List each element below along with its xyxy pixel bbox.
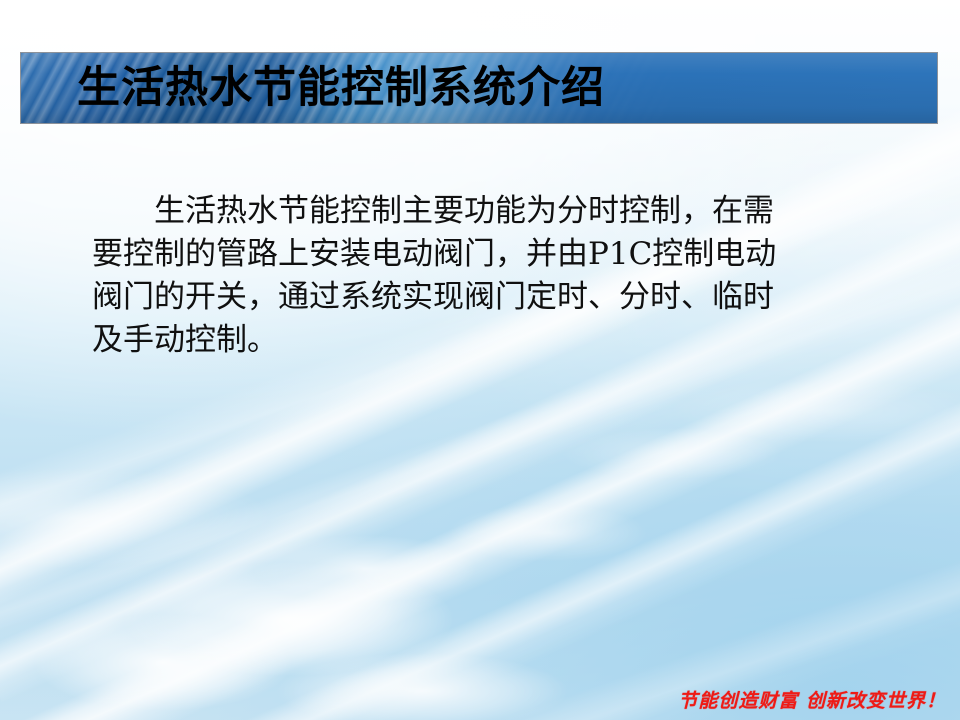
body-text-block: 生活热水节能控制主要功能为分时控制，在需要控制的管路上安装电动阀门，并由P1C控…: [92, 190, 802, 362]
title-banner: 生活热水节能控制系统介绍: [20, 52, 938, 124]
slide-title: 生活热水节能控制系统介绍: [77, 67, 605, 110]
body-paragraph: 生活热水节能控制主要功能为分时控制，在需要控制的管路上安装电动阀门，并由P1C控…: [92, 190, 802, 362]
slide-canvas: 生活热水节能控制系统介绍 生活热水节能控制主要功能为分时控制，在需要控制的管路上…: [0, 0, 960, 720]
footer-slogan: 节能创造财富 创新改变世界！: [678, 692, 946, 711]
